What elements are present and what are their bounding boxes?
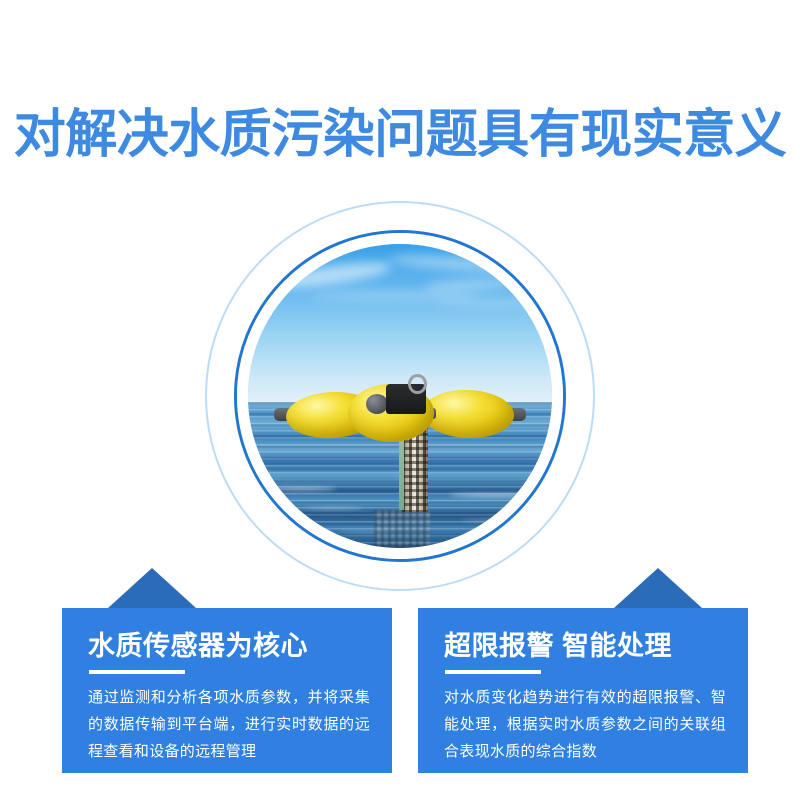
feature-card-sensor-core[interactable]: 水质传感器为核心 通过监测和分析各项水质参数，并将采集的数据传输到平台端，进行实… (62, 608, 392, 773)
feature-card-alarm-smart[interactable]: 超限报警 智能处理 对水质变化趋势进行有效的超限报警、智能处理，根据实时水质参数… (418, 608, 748, 773)
card-divider (89, 670, 185, 674)
page-title: 对解决水质污染问题具有现实意义 (0, 104, 800, 166)
promo-page: 对解决水质污染问题具有现实意义 (0, 0, 800, 800)
card-body-text: 对水质变化趋势进行有效的超限报警、智能处理，根据实时水质参数之间的关联组合表现水… (444, 684, 726, 765)
white-ring-decoration (237, 233, 563, 559)
card-pointer-tab (108, 568, 196, 608)
card-body-text: 通过监测和分析各项水质参数，并将采集的数据传输到平台端，进行实时数据的远程查看和… (88, 684, 370, 765)
card-title: 超限报警 智能处理 (444, 630, 672, 662)
card-title: 水质传感器为核心 (88, 630, 308, 662)
card-pointer-tab (614, 568, 702, 608)
card-divider (445, 670, 541, 674)
